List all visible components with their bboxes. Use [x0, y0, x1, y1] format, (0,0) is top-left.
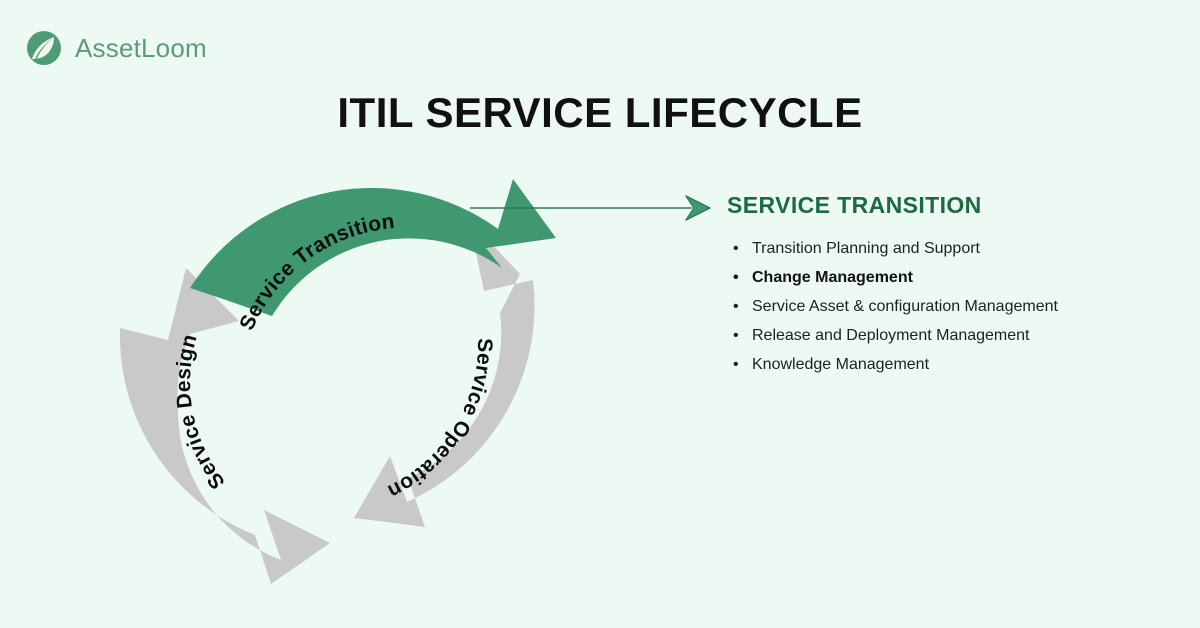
detail-list-item-label: Service Asset & configuration Management: [752, 298, 1058, 315]
service-operation-arrow: [354, 220, 535, 527]
detail-list-item[interactable]: •Transition Planning and Support: [727, 234, 1167, 263]
bullet-icon: •: [733, 234, 739, 263]
detail-list-item-label: Change Management: [752, 269, 913, 286]
detail-list-item-label: Knowledge Management: [752, 356, 929, 373]
leaf-circle-icon: [24, 28, 64, 68]
bullet-icon: •: [733, 292, 739, 321]
connector-line: [470, 190, 715, 226]
detail-heading: SERVICE TRANSITION: [727, 192, 1167, 220]
detail-process-list: •Transition Planning and Support•Change …: [727, 234, 1167, 379]
cycle-segment-service-operation[interactable]: Service Operation: [354, 220, 535, 527]
detail-list-item-label: Release and Deployment Management: [752, 327, 1030, 344]
detail-list-item-label: Transition Planning and Support: [752, 240, 980, 257]
detail-list-item[interactable]: •Change Management: [727, 263, 1167, 292]
brand-name: AssetLoom: [75, 35, 207, 61]
bullet-icon: •: [733, 263, 739, 292]
cycle-segment-service-design[interactable]: Service Design: [120, 268, 330, 584]
bullet-icon: •: [733, 350, 739, 379]
arrow-right-icon: [470, 190, 715, 226]
detail-list-item[interactable]: •Service Asset & configuration Managemen…: [727, 292, 1167, 321]
brand-logo: AssetLoom: [24, 28, 207, 68]
bullet-icon: •: [733, 321, 739, 350]
detail-list-item[interactable]: •Knowledge Management: [727, 350, 1167, 379]
service-design-arrow: [120, 268, 330, 584]
service-transition-detail-panel: SERVICE TRANSITION •Transition Planning …: [727, 192, 1167, 379]
detail-list-item[interactable]: •Release and Deployment Management: [727, 321, 1167, 350]
